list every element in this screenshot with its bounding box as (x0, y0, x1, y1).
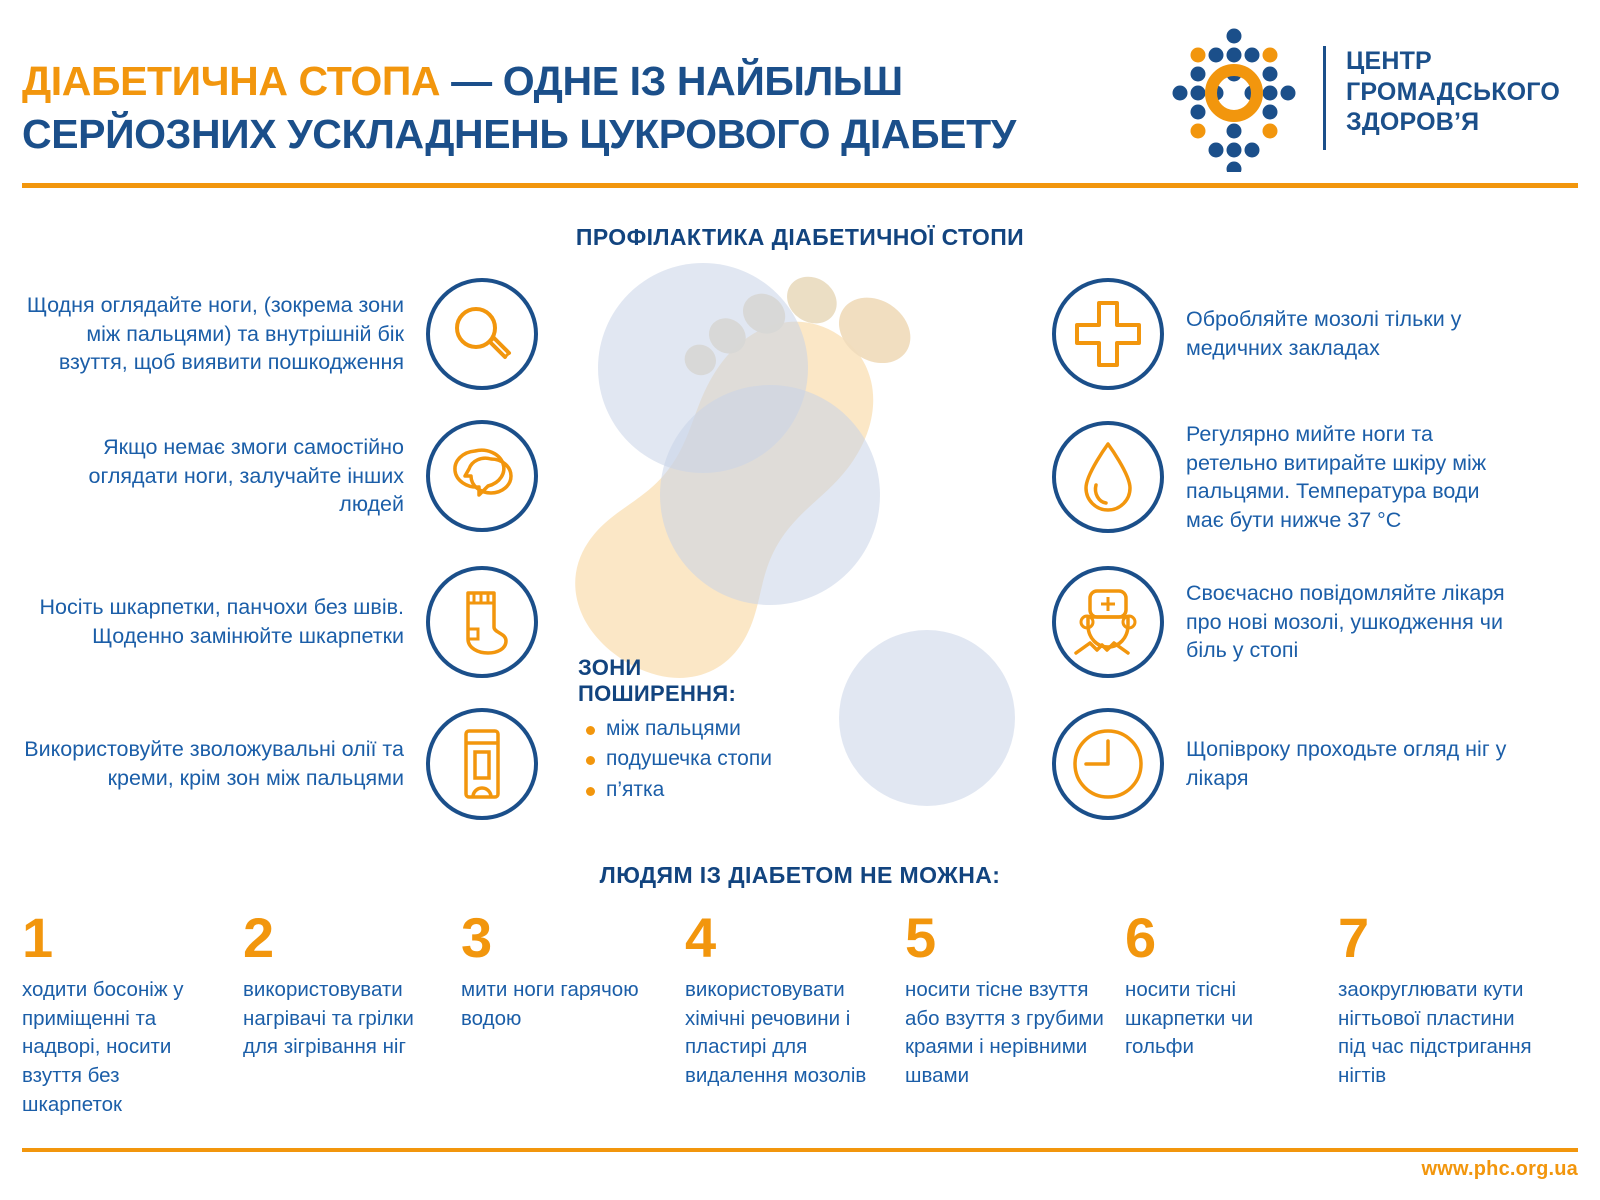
page-title-highlight: ДІАБЕТИЧНА СТОПА (22, 58, 440, 104)
page-title: ДІАБЕТИЧНА СТОПА — ОДНЕ ІЗ НАЙБІЛЬШ СЕРЙ… (22, 55, 1142, 160)
tip-label: Регулярно мийте ноги та ретельно витирай… (1164, 420, 1521, 534)
medical-cross-icon (1074, 300, 1142, 368)
list-item: п’ятка (578, 775, 818, 805)
tip-seamless-socks: Носіть шкарпетки, панчохи без швів. Щоде… (18, 566, 538, 678)
forbidden-label: використовувати хімічні речовини і пласт… (685, 976, 885, 1091)
tip-ask-others: Якщо немає змоги самостійно оглядати ног… (18, 420, 538, 532)
tip-label: Якщо немає змоги самостійно оглядати ног… (18, 433, 426, 519)
zones-title: ЗОНИ ПОШИРЕННЯ: (578, 655, 818, 708)
forbidden-item-7: 7 заокруглювати кути нігтьової пластини … (1338, 910, 1538, 1091)
forbidden-number: 1 (22, 910, 212, 966)
forbidden-item-2: 2 використовувати нагрівачі та грілки дл… (243, 910, 438, 1062)
forbidden-label: мити ноги гарячою водою (461, 976, 651, 1033)
forbidden-number: 7 (1338, 910, 1538, 966)
tip-icon-circle (1052, 708, 1164, 820)
forbidden-label: заокруглювати кути нігтьової пластини пі… (1338, 976, 1538, 1091)
forbidden-label: використовувати нагрівачі та грілки для … (243, 976, 438, 1062)
tip-icon-circle (426, 566, 538, 678)
logo-line-2: ГРОМАДСЬКОГО (1346, 77, 1586, 108)
tip-wash-feet: Регулярно мийте ноги та ретельно витирай… (1052, 420, 1521, 534)
zones-items: між пальцями подушечка стопи п’ятка (578, 714, 818, 805)
forbidden-label: носити тісні шкарпетки чи гольфи (1125, 976, 1305, 1062)
magnifier-icon (449, 301, 515, 367)
water-drop-icon (1081, 441, 1135, 513)
forbidden-section-title: ЛЮДЯМ ІЗ ДІАБЕТОМ НЕ МОЖНА: (0, 862, 1600, 889)
tip-daily-inspection: Щодня оглядайте ноги, (зокрема зони між … (18, 278, 538, 390)
logo-wordmark: ЦЕНТР ГРОМАДСЬКОГО ЗДОРОВ’Я (1346, 46, 1586, 138)
clock-icon (1071, 727, 1145, 801)
zone-circle-heel (839, 630, 1015, 806)
forbidden-item-3: 3 мити ноги гарячою водою (461, 910, 651, 1033)
tip-icon-circle (426, 420, 538, 532)
forbidden-item-1: 1 ходити босоніж у приміщенні та надворі… (22, 910, 212, 1119)
tip-notify-doctor: Своєчасно повідомляйте лікаря про нові м… (1052, 566, 1521, 678)
tip-label: Обробляйте мозолі тільки у медичних закл… (1164, 305, 1521, 362)
zones-title-line-2: ПОШИРЕННЯ: (578, 681, 736, 706)
tip-icon-circle (1052, 278, 1164, 390)
sock-icon (452, 587, 512, 657)
list-item: подушечка стопи (578, 744, 818, 774)
tip-label: Щопівроку проходьте огляд ніг у лікаря (1164, 735, 1521, 792)
tip-icon-circle (1052, 566, 1164, 678)
speech-bubbles-icon (447, 445, 517, 507)
zone-circle-ball (660, 385, 880, 605)
tip-icon-circle (1052, 421, 1164, 533)
logo-line-1: ЦЕНТР (1346, 46, 1586, 77)
doctor-icon (1070, 587, 1146, 657)
tip-moisturizing-cream: Використовуйте зволожувальні олії та кре… (18, 708, 538, 820)
forbidden-number: 3 (461, 910, 651, 966)
website-link[interactable]: www.phc.org.ua (1421, 1158, 1578, 1181)
forbidden-number: 4 (685, 910, 885, 966)
zones-list: ЗОНИ ПОШИРЕННЯ: між пальцями подушечка с… (578, 655, 818, 805)
footer-divider-rule (22, 1148, 1578, 1152)
tip-label: Носіть шкарпетки, панчохи без швів. Щоде… (18, 593, 426, 650)
page-header: ДІАБЕТИЧНА СТОПА — ОДНЕ ІЗ НАЙБІЛЬШ СЕРЙ… (0, 0, 1600, 190)
forbidden-item-4: 4 використовувати хімічні речовини і пла… (685, 910, 885, 1091)
forbidden-number: 2 (243, 910, 438, 966)
forbidden-number: 6 (1125, 910, 1305, 966)
forbidden-label: ходити босоніж у приміщенні та надворі, … (22, 976, 212, 1119)
logo-line-3: ЗДОРОВ’Я (1346, 107, 1586, 138)
forbidden-item-5: 5 носити тісне взуття або взуття з груби… (905, 910, 1110, 1091)
tip-label: Своєчасно повідомляйте лікаря про нові м… (1164, 579, 1521, 665)
forbidden-number: 5 (905, 910, 1110, 966)
tip-icon-circle (426, 278, 538, 390)
prevention-section-title: ПРОФІЛАКТИКА ДІАБЕТИЧНОЇ СТОПИ (0, 224, 1600, 251)
tip-icon-circle (426, 708, 538, 820)
list-item: між пальцями (578, 714, 818, 744)
logo-dots-icon (1160, 24, 1308, 172)
zones-title-line-1: ЗОНИ (578, 655, 642, 680)
tip-label: Щодня оглядайте ноги, (зокрема зони між … (18, 291, 426, 377)
cream-tube-icon (457, 728, 507, 800)
forbidden-item-6: 6 носити тісні шкарпетки чи гольфи (1125, 910, 1305, 1062)
tip-label: Використовуйте зволожувальні олії та кре… (18, 735, 426, 792)
organization-logo: ЦЕНТР ГРОМАДСЬКОГО ЗДОРОВ’Я (1160, 24, 1580, 169)
forbidden-label: носити тісне взуття або взуття з грубими… (905, 976, 1110, 1091)
header-divider-rule (22, 183, 1578, 188)
tip-callus-treatment: Обробляйте мозолі тільки у медичних закл… (1052, 278, 1521, 390)
logo-divider (1323, 46, 1326, 150)
tip-biannual-checkup: Щопівроку проходьте огляд ніг у лікаря (1052, 708, 1521, 820)
infographic-page: ДІАБЕТИЧНА СТОПА — ОДНЕ ІЗ НАЙБІЛЬШ СЕРЙ… (0, 0, 1600, 1200)
